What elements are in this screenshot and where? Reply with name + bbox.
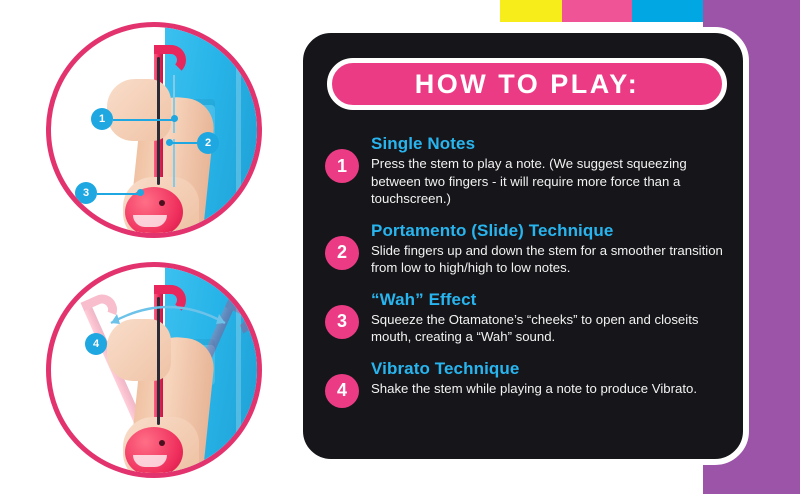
shirt-fold-2: [236, 267, 241, 478]
leader-dot-3: [137, 189, 144, 196]
step-badge-4: 4: [325, 374, 359, 408]
title-pill: HOW TO PLAY:: [327, 58, 727, 110]
photo-callout-3: 3: [75, 182, 97, 204]
step-title-3: “Wah” Effect: [371, 289, 727, 310]
step-body-1: Single Notes Press the stem to play a no…: [371, 133, 727, 208]
step-title-1: Single Notes: [371, 133, 727, 154]
photo-callout-1: 1: [91, 108, 113, 130]
slide-down-arrow: [173, 139, 175, 187]
leader-dot-1: [171, 115, 178, 122]
otamatone-mouth: [133, 215, 167, 227]
step-item-2: 2 Portamento (Slide) Technique Slide fin…: [325, 220, 727, 277]
step-item-4: 4 Vibrato Technique Shake the stem while…: [325, 358, 727, 408]
steps-list: 1 Single Notes Press the stem to play a …: [325, 133, 727, 420]
otamatone-head-2: [125, 427, 183, 477]
photo-top: 1 2 3: [46, 22, 262, 238]
step-item-3: 3 “Wah” Effect Squeeze the Otamatone’s “…: [325, 289, 727, 346]
leader-line-1: [113, 119, 175, 121]
infographic-root: 1 2 3: [0, 0, 800, 494]
step-description-2: Slide fingers up and down the stem for a…: [371, 242, 727, 277]
shirt-fold: [236, 27, 241, 238]
cyan-color-bar: [632, 0, 703, 22]
step-badge-2: 2: [325, 236, 359, 270]
step-title-4: Vibrato Technique: [371, 358, 697, 379]
slide-up-arrow: [173, 75, 175, 133]
pink-color-bar: [562, 0, 632, 22]
photo-top-scene: 1 2 3: [51, 27, 257, 233]
stem-touch-line: [157, 57, 160, 185]
instructions-card: HOW TO PLAY: 1 Single Notes Press the st…: [297, 27, 749, 465]
step-title-2: Portamento (Slide) Technique: [371, 220, 727, 241]
photo-bottom: 4: [46, 262, 262, 478]
step-badge-1: 1: [325, 149, 359, 183]
step-body-2: Portamento (Slide) Technique Slide finge…: [371, 220, 727, 277]
step-description-1: Press the stem to play a note. (We sugge…: [371, 155, 727, 207]
step-description-3: Squeeze the Otamatone’s “cheeks” to open…: [371, 311, 727, 346]
step-body-3: “Wah” Effect Squeeze the Otamatone’s “ch…: [371, 289, 727, 346]
photo-bottom-scene: 4: [51, 267, 257, 473]
otamatone-mouth-2: [133, 455, 167, 467]
step-body-4: Vibrato Technique Shake the stem while p…: [371, 358, 697, 408]
upper-hand-graphic: [107, 79, 171, 141]
otamatone-eye-2: [159, 440, 165, 446]
step-description-4: Shake the stem while playing a note to p…: [371, 380, 697, 397]
leader-line-3: [97, 193, 141, 195]
otamatone-eye: [159, 200, 165, 206]
page-title: HOW TO PLAY:: [415, 69, 640, 100]
yellow-color-bar: [500, 0, 562, 22]
photo-callout-2: 2: [197, 132, 219, 154]
photo-callout-4: 4: [85, 333, 107, 355]
step-badge-3: 3: [325, 305, 359, 339]
step-item-1: 1 Single Notes Press the stem to play a …: [325, 133, 727, 208]
shake-arc-arrow-icon: [103, 289, 233, 335]
